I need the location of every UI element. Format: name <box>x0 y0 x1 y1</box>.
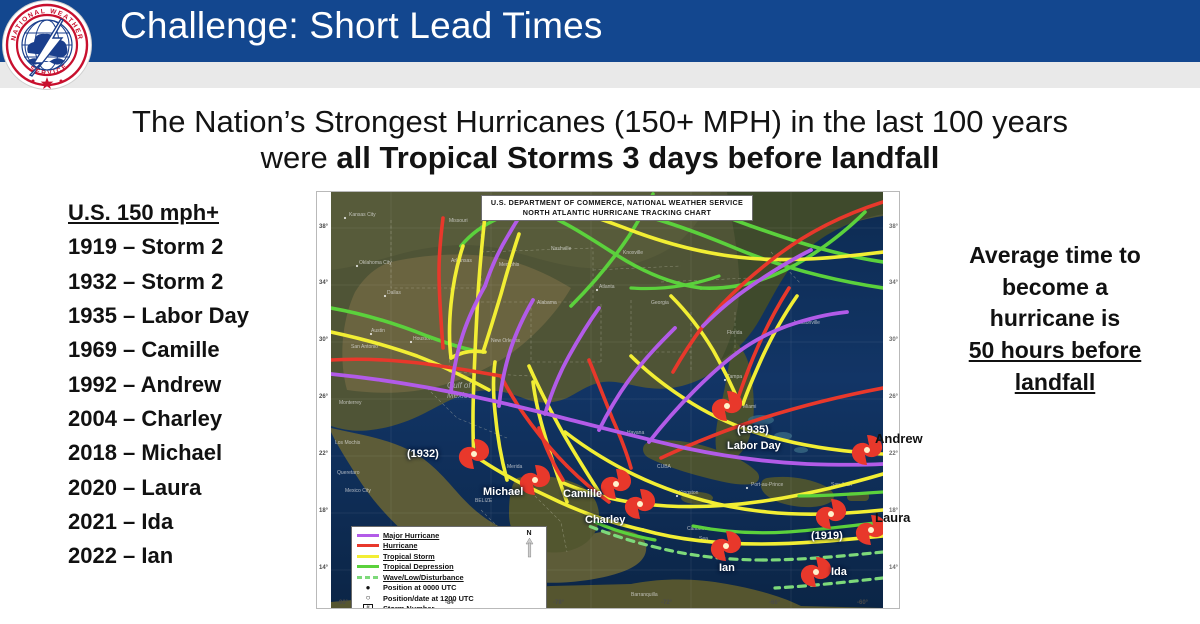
svg-text:Florida: Florida <box>727 330 743 336</box>
open-circle-icon: ○ <box>357 594 379 602</box>
nws-seal-graphic: NATIONAL WEATHER SERVICE <box>3 1 91 89</box>
lat-tick-label: 30° <box>319 337 328 343</box>
lat-tick-label-right: 34° <box>889 280 898 286</box>
wave-low-disturbance-swatch-icon <box>357 576 379 579</box>
note-line-3: hurricane is <box>915 303 1195 335</box>
svg-text:BELIZE: BELIZE <box>475 498 493 504</box>
svg-text:Nashville: Nashville <box>551 246 572 252</box>
note-line-2: become a <box>915 272 1195 304</box>
list-item: 1932 – Storm 2 <box>68 265 318 299</box>
svg-text:Austin: Austin <box>371 328 385 334</box>
svg-text:Mexico City: Mexico City <box>345 488 371 494</box>
note-line-5: landfall <box>915 367 1195 399</box>
list-item: 2004 – Charley <box>68 402 318 436</box>
note-line-4: 50 hours before <box>915 335 1195 367</box>
legend-label: Position/date at 1200 UTC <box>383 594 474 603</box>
north-arrow-glyph <box>525 538 534 558</box>
lat-tick-label-right: 14° <box>889 565 898 571</box>
north-arrow-icon: N <box>518 530 540 560</box>
legend-label: Position at 0000 UTC <box>383 583 457 592</box>
storm-label-andrew: Andrew <box>875 431 923 446</box>
storm-label-ian: Ian <box>719 562 735 574</box>
list-item: 1919 – Storm 2 <box>68 230 318 264</box>
legend-row-hurricane: Hurricane <box>357 541 542 552</box>
legend-label: Hurricane <box>383 541 418 550</box>
list-item: 1935 – Labor Day <box>68 299 318 333</box>
svg-text:Arkansas: Arkansas <box>451 258 472 264</box>
storm-number-box-icon: # <box>357 604 379 608</box>
heading-line-2-normal: were <box>261 140 337 175</box>
svg-text:Los Mochis: Los Mochis <box>335 440 361 446</box>
hurricane-swatch-icon <box>357 544 379 547</box>
svg-text:Alabama: Alabama <box>537 300 557 306</box>
lat-tick-label: 34° <box>319 280 328 286</box>
storm-label-1935: (1935) <box>737 424 769 436</box>
legend-row-tropical-depression: Tropical Depression <box>357 562 542 573</box>
lat-tick-label-right: 26° <box>889 394 898 400</box>
average-time-note: Average time to become a hurricane is 50… <box>915 240 1195 399</box>
storm-label-1932: (1932) <box>407 448 439 460</box>
filled-circle-icon: ● <box>357 584 379 592</box>
storm-label-camille: Camille <box>563 488 602 500</box>
legend-row-wave-low-disturbance: Wave/Low/Disturbance <box>357 572 542 583</box>
slide-heading: The Nation’s Strongest Hurricanes (150+ … <box>0 104 1200 175</box>
legend-row-position-0000utc: ● Position at 0000 UTC <box>357 583 542 594</box>
lat-tick-label: 14° <box>319 565 328 571</box>
list-item: 2022 – Ian <box>68 539 318 573</box>
svg-text:Kansas City: Kansas City <box>349 212 376 218</box>
list-item: 2021 – Ida <box>68 505 318 539</box>
svg-text:Miami: Miami <box>743 404 756 410</box>
lat-tick-label: 18° <box>319 508 328 514</box>
tropical-depression-swatch-icon <box>357 565 379 568</box>
list-item: 2018 – Michael <box>68 436 318 470</box>
nws-logo: NATIONAL WEATHER SERVICE <box>3 1 91 89</box>
list-header: U.S. 150 mph+ <box>68 196 318 230</box>
list-item: 1969 – Camille <box>68 333 318 367</box>
storm-label-labor-day: Labor Day <box>727 440 781 452</box>
lat-tick-label: 26° <box>319 394 328 400</box>
svg-text:Missouri: Missouri <box>449 218 468 224</box>
map-title-banner: U.S. DEPARTMENT OF COMMERCE, NATIONAL WE… <box>481 195 753 221</box>
lon-tick-label: -60° <box>857 600 868 606</box>
lat-tick-label: 22° <box>319 451 328 457</box>
list-item: 2020 – Laura <box>68 471 318 505</box>
map-legend: N Major Hurricane Hurricane Tropical Sto… <box>351 526 547 608</box>
heading-line-1: The Nation’s Strongest Hurricanes (150+ … <box>132 104 1068 139</box>
map-canvas[interactable]: Kansas City Missouri Oklahoma City Arkan… <box>331 192 883 608</box>
map-banner-line-2: NORTH ATLANTIC HURRICANE TRACKING CHART <box>482 208 752 218</box>
heading-line-2: were all Tropical Storms 3 days before l… <box>0 140 1200 176</box>
lat-tick-label-right: 30° <box>889 337 898 343</box>
storm-label-charley: Charley <box>585 514 625 526</box>
storm-label-laura: Laura <box>875 510 910 525</box>
lat-tick-label: 38° <box>319 224 328 230</box>
svg-text:Dallas: Dallas <box>387 290 401 296</box>
svg-text:Georgia: Georgia <box>651 300 669 306</box>
legend-label: Wave/Low/Disturbance <box>383 573 464 582</box>
legend-label: Tropical Depression <box>383 562 454 571</box>
svg-text:San Antonio: San Antonio <box>351 344 378 350</box>
tropical-storm-swatch-icon <box>357 555 379 558</box>
svg-text:Monterrey: Monterrey <box>339 400 362 406</box>
svg-text:CUBA: CUBA <box>657 464 672 470</box>
legend-label: Storm Number <box>383 604 434 608</box>
legend-row-major-hurricane: Major Hurricane <box>357 530 542 541</box>
svg-text:Merida: Merida <box>507 464 523 470</box>
storm-label-michael: Michael <box>483 486 523 498</box>
lon-tick-label: -90° <box>337 600 348 606</box>
storm-label-1919: (1919) <box>811 530 843 542</box>
svg-text:Atlanta: Atlanta <box>599 284 615 290</box>
legend-label: Major Hurricane <box>383 531 439 540</box>
svg-text:Port-au-Prince: Port-au-Prince <box>751 482 783 488</box>
legend-label: Tropical Storm <box>383 552 435 561</box>
svg-text:Knoxville: Knoxville <box>623 250 643 256</box>
heading-line-2-bold: all Tropical Storms 3 days before landfa… <box>336 140 939 175</box>
note-line-1: Average time to <box>915 240 1195 272</box>
svg-text:Queretaro: Queretaro <box>337 470 360 476</box>
strongest-hurricanes-list: U.S. 150 mph+ 1919 – Storm 2 1932 – Stor… <box>68 196 318 573</box>
lon-tick-label: -78° <box>553 600 564 606</box>
list-item: 1992 – Andrew <box>68 368 318 402</box>
title-bar-underline-strip <box>0 62 1200 88</box>
lon-tick-label: -72° <box>661 600 672 606</box>
svg-text:Oklahoma City: Oklahoma City <box>359 260 392 266</box>
hurricane-tracking-chart[interactable]: 38° 34° 30° 26° 22° 18° 14° <box>316 191 900 609</box>
lat-tick-label-right: 38° <box>889 224 898 230</box>
lat-tick-label-right: 22° <box>889 451 898 457</box>
page-title: Challenge: Short Lead Times <box>120 5 603 47</box>
map-banner-line-1: U.S. DEPARTMENT OF COMMERCE, NATIONAL WE… <box>482 198 752 208</box>
lon-tick-label: -84° <box>445 600 456 606</box>
svg-text:Barranquilla: Barranquilla <box>631 592 658 598</box>
major-hurricane-swatch-icon <box>357 534 379 537</box>
north-label: N <box>518 530 540 538</box>
lon-tick-label: -66° <box>769 600 780 606</box>
legend-row-tropical-storm: Tropical Storm <box>357 551 542 562</box>
storm-label-ida: Ida <box>831 566 847 578</box>
